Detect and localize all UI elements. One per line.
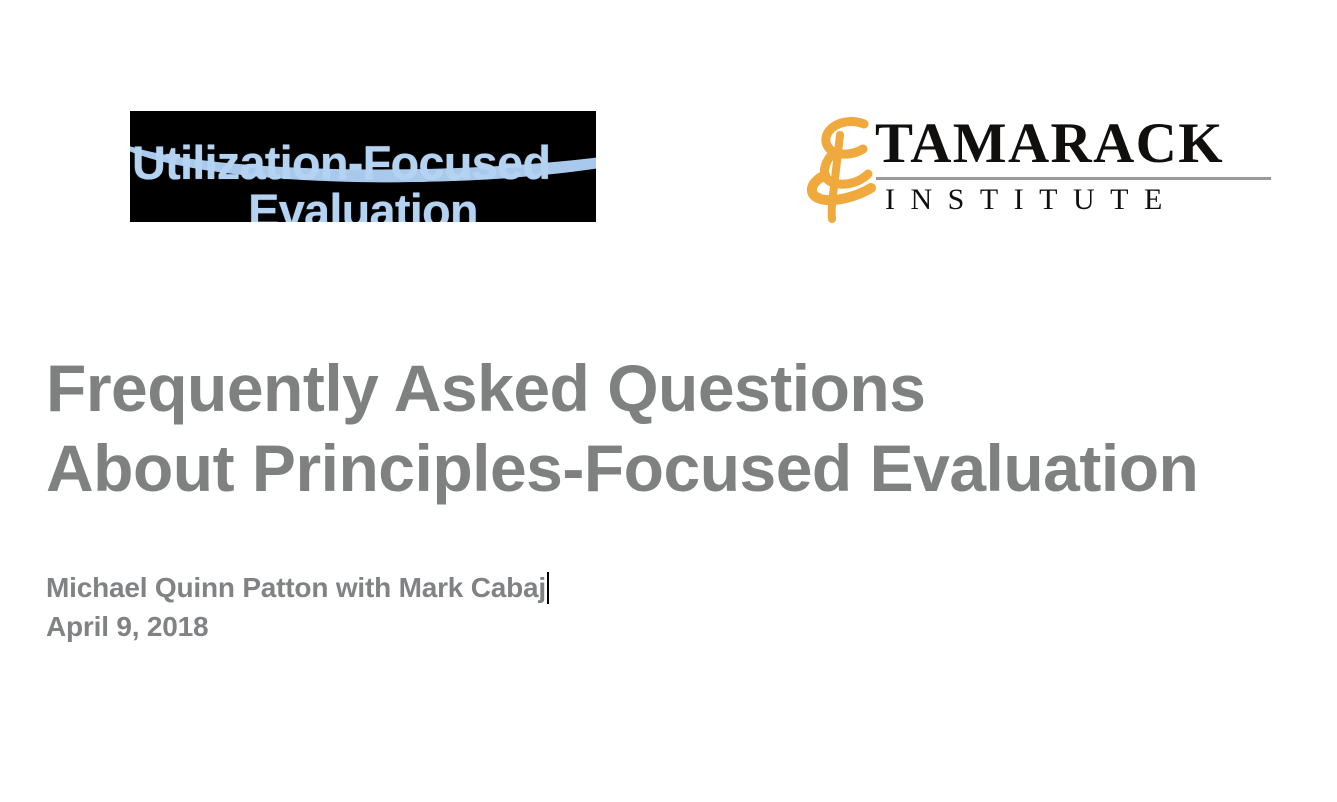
author-line[interactable]: Michael Quinn Patton with Mark Cabaj (46, 568, 946, 607)
slide-byline: Michael Quinn Patton with Mark Cabaj Apr… (46, 568, 946, 646)
slide-title: Frequently Asked Questions About Princip… (46, 348, 1306, 508)
title-line-one: Frequently Asked Questions (46, 348, 1306, 428)
presentation-slide: Utilization-Focused Evaluation TAMARACK … (0, 0, 1337, 802)
utilization-focused-evaluation-logo: Utilization-Focused Evaluation (130, 111, 596, 222)
date-line: April 9, 2018 (46, 607, 946, 646)
tamarack-wordmark: TAMARACK INSTITUTE (875, 113, 1273, 220)
author-names: Michael Quinn Patton with Mark Cabaj (46, 568, 546, 607)
tamarack-institute-text: INSTITUTE (875, 180, 1273, 220)
title-line-two: About Principles-Focused Evaluation (46, 428, 1306, 508)
tamarack-institute-logo: TAMARACK INSTITUTE (803, 113, 1273, 225)
text-cursor-caret (547, 572, 549, 604)
author-row: Michael Quinn Patton with Mark Cabaj (46, 568, 549, 607)
stylized-e-mark-icon (803, 115, 877, 223)
ufe-logo-line-one: Utilization-Focused (132, 139, 596, 186)
tamarack-name-text: TAMARACK (875, 113, 1273, 175)
ufe-logo-line-two: Evaluation (130, 187, 596, 222)
